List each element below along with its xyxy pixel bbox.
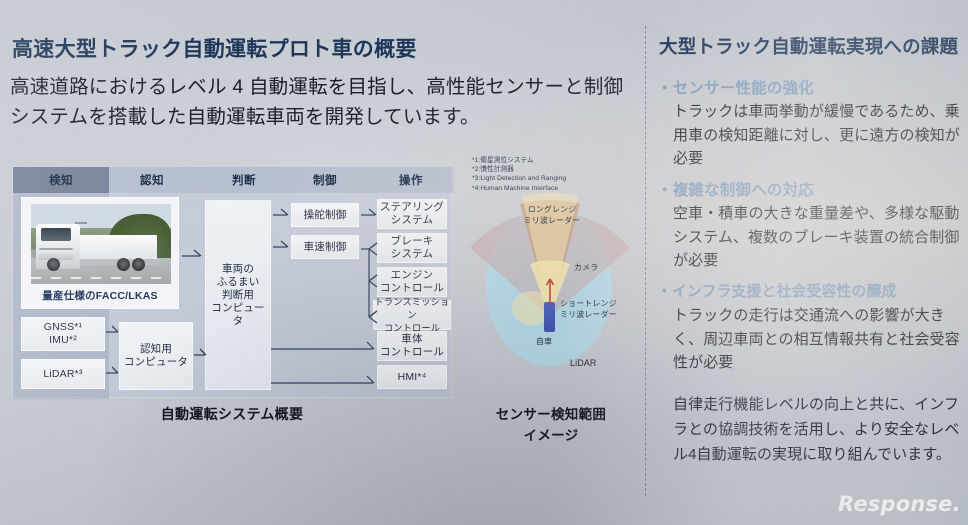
arrow-judge-to-body-control bbox=[271, 337, 379, 351]
challenge-body-infra: トラックの走行は交通流への影響が大きく、周辺車両との相互情報共有と社会受容性が必… bbox=[673, 304, 965, 375]
column-header-detect: 検知 bbox=[13, 167, 109, 193]
challenge-heading-infra: ・インフラ支援と社会受容性の醸成 bbox=[657, 280, 897, 301]
arrow-steering-control-to-system bbox=[361, 205, 379, 219]
closing-paragraph: 自律走行機能レベルの向上と共に、インフラとの協調技術を活用し、より安全なレベル4… bbox=[673, 392, 965, 467]
arrow-judge-to-speed-control bbox=[273, 237, 291, 251]
truck-photo bbox=[31, 204, 171, 284]
truck-wheel bbox=[47, 258, 60, 271]
sensor-diagram-caption: センサー検知範囲 イメージ bbox=[462, 404, 640, 446]
node-recognition-computer[interactable]: 認知用 コンピュータ bbox=[119, 322, 193, 390]
slide-canvas: 高速大型トラック自動運転プロト車の概要 高速道路におけるレベル 4 自動運転を目… bbox=[0, 0, 968, 525]
challenge-heading-control: ・複雑な制御への対応 bbox=[657, 178, 814, 200]
column-header-judge: 判断 bbox=[203, 167, 285, 193]
arrow-speed-control-branch bbox=[361, 229, 381, 323]
column-header-control: 制御 bbox=[285, 167, 365, 193]
node-brake-system[interactable]: ブレーキ システム bbox=[377, 233, 447, 263]
node-engine-control[interactable]: エンジン コントロール bbox=[377, 267, 447, 297]
arrow-recognition-to-judge bbox=[194, 345, 208, 359]
arrow-truck-to-judge bbox=[182, 245, 206, 259]
node-judgement-computer[interactable]: 車両の ふるまい 判断用 コンピュータ bbox=[205, 200, 271, 390]
response-watermark: Response. bbox=[838, 492, 961, 516]
truck-caption: 量産仕様のFACC/LKAS bbox=[22, 288, 178, 303]
label-short-range-radar: ショートレンジ ミリ波レーダー bbox=[560, 298, 617, 320]
lead-paragraph: 高速道路におけるレベル 4 自動運転を目指し、高性能センサーと制御システムを搭載… bbox=[10, 72, 630, 132]
arrow-judge-to-steering-control bbox=[273, 205, 291, 219]
challenge-body-sensor: トラックは車両挙動が緩慢であるため、乗用車の検知距離に対し、更に遠方の検知が必要 bbox=[673, 100, 965, 171]
node-steering-system[interactable]: ステアリング システム bbox=[377, 199, 447, 229]
road-lane-marking bbox=[31, 277, 171, 279]
node-steering-control[interactable]: 操舵制御 bbox=[291, 203, 359, 227]
node-transmission-control[interactable]: トランスミッション コントロール bbox=[373, 300, 451, 330]
truck-flatbed bbox=[77, 235, 157, 260]
heading-arrow-icon bbox=[546, 277, 554, 310]
truck-wheel bbox=[132, 258, 145, 271]
label-camera: カメラ bbox=[574, 262, 598, 273]
arrow-lidar-to-recognition bbox=[106, 363, 120, 377]
flow-diagram-caption: 自動運転システム概要 bbox=[12, 404, 452, 424]
node-speed-control[interactable]: 車速制御 bbox=[291, 235, 359, 259]
label-ego-vehicle: 自車 bbox=[536, 336, 552, 347]
truck-photo-card: 量産仕様のFACC/LKAS bbox=[21, 197, 179, 309]
arrow-gnss-to-recognition bbox=[106, 322, 120, 336]
node-body-control[interactable]: 車体 コントロール bbox=[377, 331, 447, 361]
column-header-recognize: 認知 bbox=[109, 167, 195, 193]
truck-windshield bbox=[41, 228, 71, 241]
node-hmi[interactable]: HMI*⁴ bbox=[377, 365, 447, 389]
label-lidar: LiDAR bbox=[570, 358, 597, 369]
truck-wheel bbox=[117, 258, 130, 271]
label-long-range-radar: ロングレンジ ミリ波レーダー bbox=[500, 204, 604, 226]
panel-divider bbox=[645, 26, 646, 496]
node-gnss-imu[interactable]: GNSS*¹ IMU*² bbox=[21, 317, 105, 351]
truck-mirror bbox=[75, 222, 87, 224]
right-panel: 大型トラック自動運転実現への課題 ・センサー性能の強化 トラックは車両挙動が緩慢… bbox=[655, 0, 968, 525]
left-panel: 高速大型トラック自動運転プロト車の概要 高速道路におけるレベル 4 自動運転を目… bbox=[0, 0, 640, 525]
right-panel-title: 大型トラック自動運転実現への課題 bbox=[659, 33, 958, 59]
column-header-operate: 操作 bbox=[369, 167, 453, 193]
page-title: 高速大型トラック自動運転プロト車の概要 bbox=[12, 33, 417, 63]
sensor-range-diagram: ロングレンジ ミリ波レーダー カメラ ショートレンジ ミリ波レーダー 自車 Li… bbox=[462, 150, 640, 398]
node-lidar[interactable]: LiDAR*³ bbox=[21, 359, 105, 389]
system-flow-diagram: 検知 認知 判断 制御 操作 bbox=[12, 166, 452, 398]
challenge-body-control: 空車・積車の大きな重量差や、多様な駆動システム、複数のブレーキ装置の統合制御が必… bbox=[673, 202, 965, 273]
arrow-judge-to-hmi bbox=[271, 371, 379, 385]
challenge-heading-sensor: ・センサー性能の強化 bbox=[657, 76, 814, 98]
